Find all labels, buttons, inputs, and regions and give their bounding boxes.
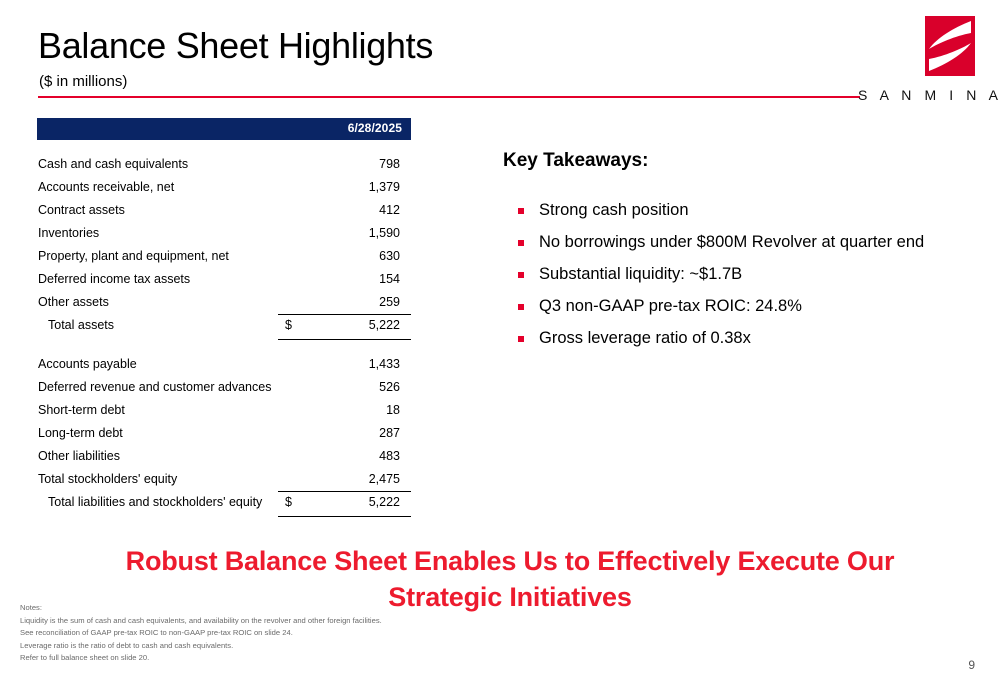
row-label: Other assets <box>38 291 109 314</box>
row-label: Accounts payable <box>38 353 137 376</box>
row-value: 1,590 <box>369 222 400 245</box>
table-row: Long-term debt 287 <box>37 422 411 445</box>
row-label: Inventories <box>38 222 99 245</box>
row-label: Accounts receivable, net <box>38 176 174 199</box>
table-header-bar: 6/28/2025 <box>37 118 411 140</box>
row-label: Contract assets <box>38 199 125 222</box>
row-value: 5,222 <box>369 314 400 337</box>
row-value: 483 <box>379 445 400 468</box>
table-column-header-date: 6/28/2025 <box>348 121 402 135</box>
table-body-liabilities: Accounts payable 1,433 Deferred revenue … <box>37 353 411 514</box>
row-label: Cash and cash equivalents <box>38 153 188 176</box>
square-bullet-icon <box>518 304 524 310</box>
slide-canvas: Balance Sheet Highlights ($ in millions)… <box>0 0 1000 685</box>
balance-sheet-table: 6/28/2025 Cash and cash equivalents 798 … <box>37 118 411 514</box>
footnote-heading: Notes: <box>20 602 540 615</box>
square-bullet-icon <box>518 240 524 246</box>
table-row: Contract assets 412 <box>37 199 411 222</box>
table-row: Short-term debt 18 <box>37 399 411 422</box>
table-body-assets: Cash and cash equivalents 798 Accounts r… <box>37 153 411 337</box>
table-row-total-liabilities-equity: Total liabilities and stockholders' equi… <box>37 491 411 514</box>
row-label: Deferred income tax assets <box>38 268 190 291</box>
row-label: Total assets <box>48 314 114 337</box>
row-label: Long-term debt <box>38 422 123 445</box>
row-value: 412 <box>379 199 400 222</box>
row-value: 798 <box>379 153 400 176</box>
list-item-label: Strong cash position <box>539 201 689 219</box>
table-row: Inventories 1,590 <box>37 222 411 245</box>
row-label: Total liabilities and stockholders' equi… <box>48 491 262 514</box>
key-takeaways-heading: Key Takeaways: <box>503 150 648 172</box>
footnote-line: Refer to full balance sheet on slide 20. <box>20 652 540 665</box>
footnotes: Notes: Liquidity is the sum of cash and … <box>20 602 540 665</box>
square-bullet-icon <box>518 208 524 214</box>
page-title: Balance Sheet Highlights <box>38 24 433 68</box>
row-value: 630 <box>379 245 400 268</box>
list-item: Substantial liquidity: ~$1.7B <box>518 264 988 285</box>
row-value: 18 <box>386 399 400 422</box>
list-item-label: Substantial liquidity: ~$1.7B <box>539 265 742 283</box>
list-item: Gross leverage ratio of 0.38x <box>518 328 988 349</box>
list-item-label: Gross leverage ratio of 0.38x <box>539 329 751 347</box>
list-item: Q3 non-GAAP pre-tax ROIC: 24.8% <box>518 296 988 317</box>
row-value: 2,475 <box>369 468 400 491</box>
row-value: 1,379 <box>369 176 400 199</box>
footnote-line: Leverage ratio is the ratio of debt to c… <box>20 640 540 653</box>
row-label: Property, plant and equipment, net <box>38 245 229 268</box>
header-divider <box>38 96 860 98</box>
banner-line-1: Robust Balance Sheet Enables Us to Effec… <box>100 543 920 579</box>
row-value: 1,433 <box>369 353 400 376</box>
list-item-label: No borrowings under $800M Revolver at qu… <box>539 233 924 251</box>
key-takeaways-list: Strong cash position No borrowings under… <box>518 200 988 360</box>
row-value: 5,222 <box>369 491 400 514</box>
table-row: Cash and cash equivalents 798 <box>37 153 411 176</box>
row-value: 526 <box>379 376 400 399</box>
row-label: Deferred revenue and customer advances <box>38 376 271 399</box>
table-row: Accounts receivable, net 1,379 <box>37 176 411 199</box>
table-row: Accounts payable 1,433 <box>37 353 411 376</box>
table-row: Property, plant and equipment, net 630 <box>37 245 411 268</box>
row-value: 259 <box>379 291 400 314</box>
page-number: 9 <box>968 658 975 672</box>
row-value: 154 <box>379 268 400 291</box>
square-bullet-icon <box>518 272 524 278</box>
row-label: Short-term debt <box>38 399 125 422</box>
list-item-label: Q3 non-GAAP pre-tax ROIC: 24.8% <box>539 297 802 315</box>
table-row-total-assets: Total assets $ 5,222 <box>37 314 411 337</box>
currency-symbol: $ <box>285 314 292 337</box>
table-row: Other liabilities 483 <box>37 445 411 468</box>
list-item: No borrowings under $800M Revolver at qu… <box>518 232 988 253</box>
footnote-line: See reconciliation of GAAP pre-tax ROIC … <box>20 627 540 640</box>
table-row: Deferred revenue and customer advances 5… <box>37 376 411 399</box>
page-subtitle: ($ in millions) <box>39 73 127 91</box>
row-value: 287 <box>379 422 400 445</box>
list-item: Strong cash position <box>518 200 988 221</box>
table-row: Total stockholders' equity 2,475 <box>37 468 411 491</box>
sanmina-s-logo-icon <box>925 16 975 76</box>
square-bullet-icon <box>518 336 524 342</box>
currency-symbol: $ <box>285 491 292 514</box>
sanmina-wordmark: S A N M I N A <box>858 87 1000 103</box>
row-label: Other liabilities <box>38 445 120 468</box>
footnote-line: Liquidity is the sum of cash and cash eq… <box>20 615 540 628</box>
row-label: Total stockholders' equity <box>38 468 177 491</box>
table-row: Deferred income tax assets 154 <box>37 268 411 291</box>
table-row: Other assets 259 <box>37 291 411 314</box>
